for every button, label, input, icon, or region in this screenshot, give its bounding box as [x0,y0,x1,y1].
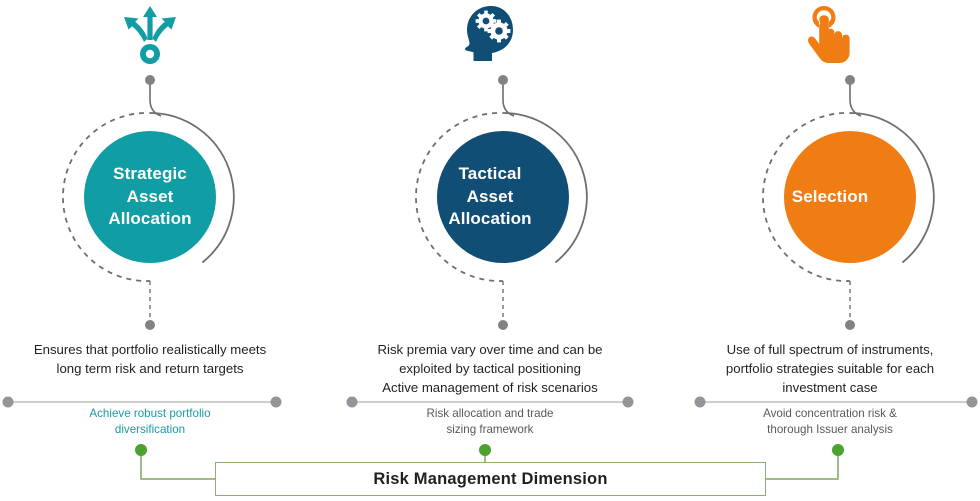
pillar-1-desc-line-2: long term risk and return targets [0,359,300,378]
pillar-1-subtext: Achieve robust portfolio diversification [0,406,300,438]
pillar-2-description: Risk premia vary over time and can be ex… [340,340,640,397]
pillar-2-desc-line-1: Risk premia vary over time and can be [340,340,640,359]
pillar-1-sub-line-1: Achieve robust portfolio [0,406,300,422]
pillar-1-description: Ensures that portfolio realistically mee… [0,340,300,378]
pillar-1-title-line-1: Strategic [113,164,187,183]
pointing-hand-tap-icon [680,2,980,68]
pillar-2-subtext: Risk allocation and trade sizing framewo… [340,406,640,438]
pillar-1-title: Strategic Asset Allocation [0,163,300,231]
pillar-1-desc-line-1: Ensures that portfolio realistically mee… [0,340,300,359]
pillar-3-title: Selection [680,186,980,209]
pillar-3-title-line-1: Selection [792,187,868,206]
pillar-1-sub-line-2: diversification [0,422,300,438]
pillar-2-title-line-1: Tactical [459,164,522,183]
pillar-2-title-line-3: Allocation [448,209,531,228]
pillar-1-title-line-2: Asset [127,187,174,206]
pillar-selection[interactable]: Selection Use of full spectrum of instru… [680,0,980,501]
head-with-gears-icon [340,2,640,68]
pillar-3-sub-line-1: Avoid concentration risk & [680,406,980,422]
pillar-3-desc-line-2: portfolio strategies suitable for each [680,359,980,378]
pillar-3-desc-line-1: Use of full spectrum of instruments, [680,340,980,359]
pillar-tactical-asset-allocation[interactable]: Tactical Asset Allocation Risk premia va… [340,0,640,501]
pillar-3-sub-line-2: thorough Issuer analysis [680,422,980,438]
pillar-2-sub-line-2: sizing framework [340,422,640,438]
pillar-2-title: Tactical Asset Allocation [340,163,640,231]
risk-management-dimension-label: Risk Management Dimension [373,470,607,489]
risk-management-dimension-box[interactable]: Risk Management Dimension [215,462,766,496]
pillar-3-description: Use of full spectrum of instruments, por… [680,340,980,397]
pillar-2-sub-line-1: Risk allocation and trade [340,406,640,422]
diagram-canvas: Strategic Asset Allocation Ensures that … [0,0,980,501]
pillar-strategic-asset-allocation[interactable]: Strategic Asset Allocation Ensures that … [0,0,300,501]
pillar-2-desc-line-2: exploited by tactical positioning [340,359,640,378]
pillar-2-desc-line-3: Active management of risk scenarios [340,378,640,397]
diverging-arrows-icon [0,2,300,68]
pillar-3-subtext: Avoid concentration risk & thorough Issu… [680,406,980,438]
pillar-1-title-line-3: Allocation [108,209,191,228]
pillar-2-title-line-2: Asset [467,187,514,206]
pillar-3-desc-line-3: investment case [680,378,980,397]
